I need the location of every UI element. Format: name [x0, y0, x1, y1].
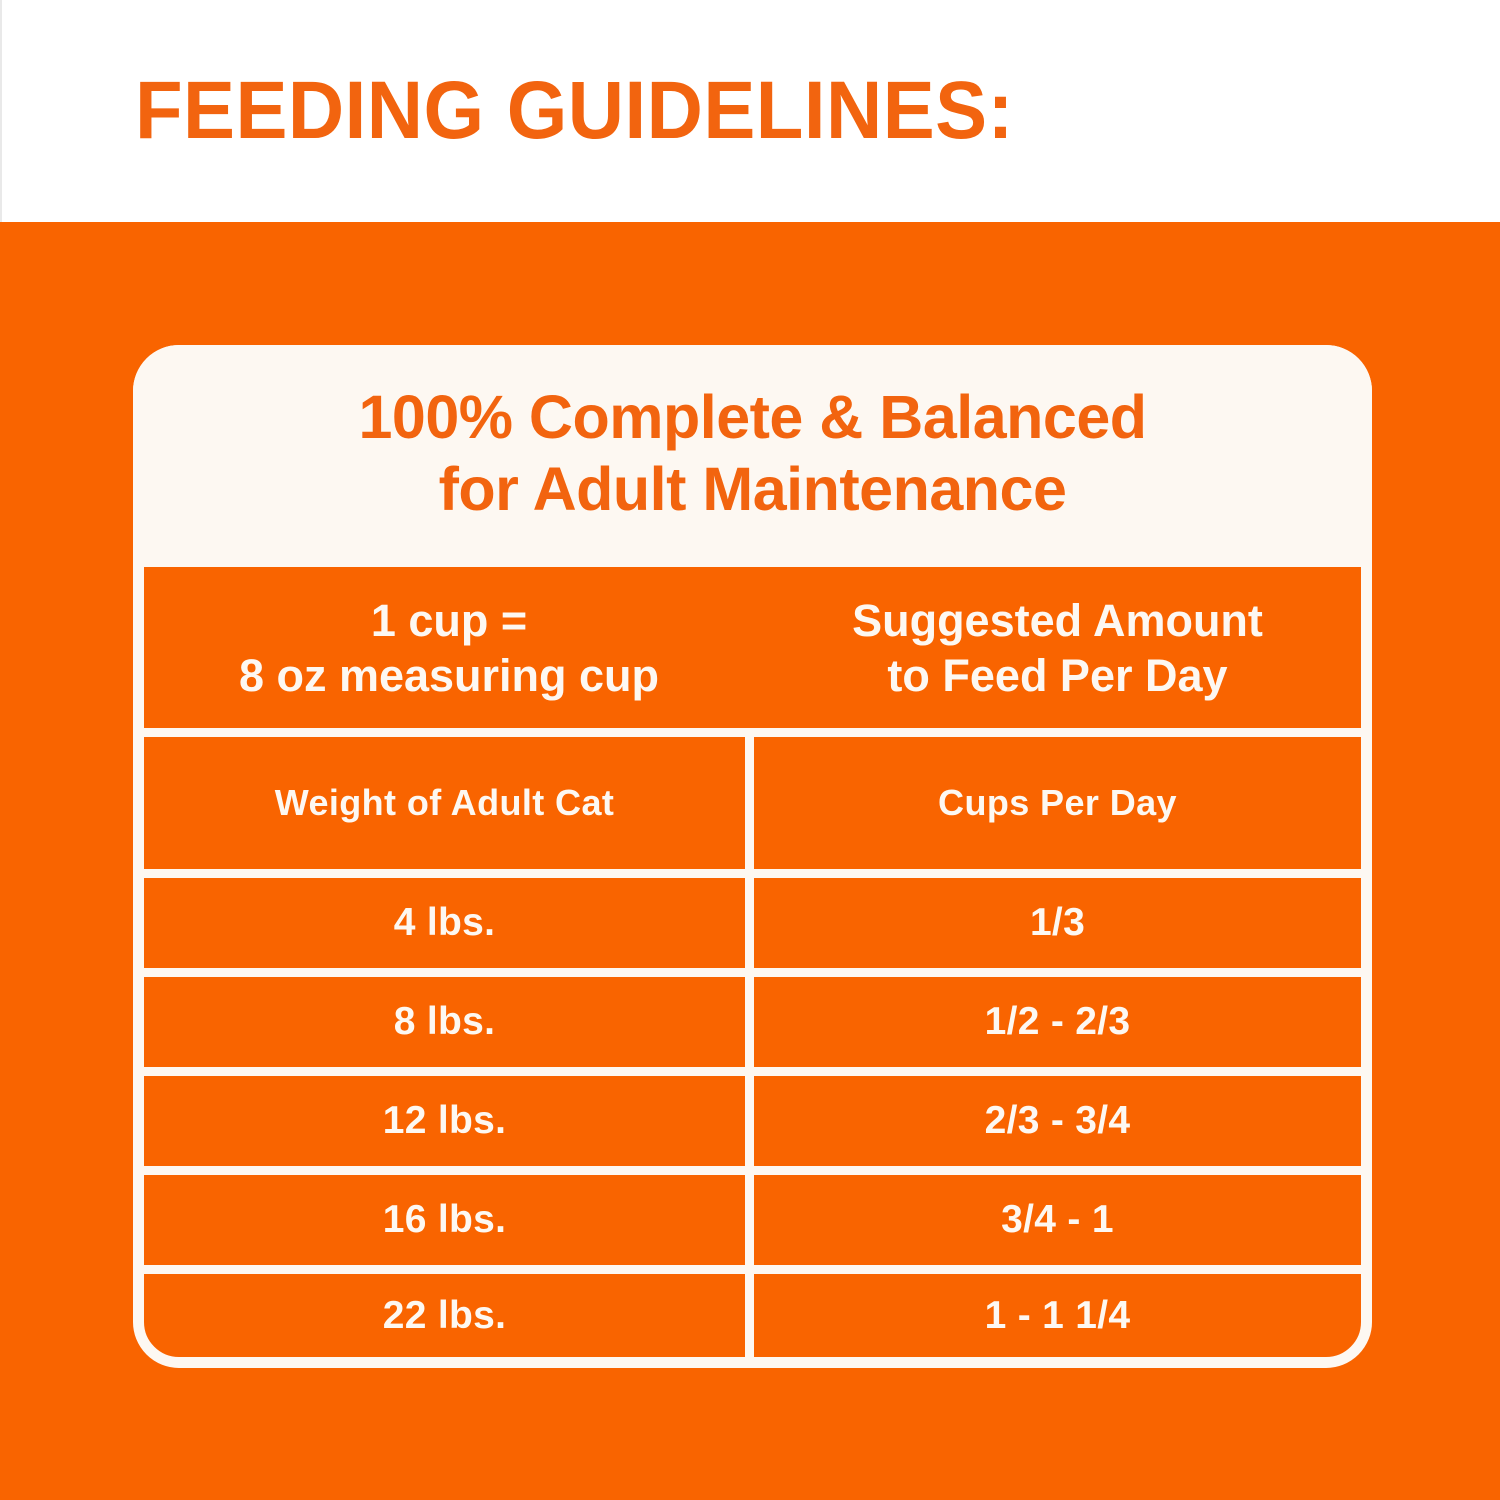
suggested-amount-line-1: Suggested Amount	[852, 593, 1263, 648]
column-header-weight: Weight of Adult Cat	[144, 737, 754, 869]
panel-heading-line-1: 100% Complete & Balanced	[358, 381, 1146, 453]
table-row: 4 lbs. 1/3	[144, 878, 1361, 977]
cell-cups: 2/3 - 3/4	[754, 1076, 1361, 1166]
table-top-header-row: 1 cup = 8 oz measuring cup Suggested Amo…	[144, 567, 1361, 737]
panel-heading: 100% Complete & Balanced for Adult Maint…	[358, 381, 1146, 531]
table-row: 16 lbs. 3/4 - 1	[144, 1175, 1361, 1274]
cell-weight: 16 lbs.	[144, 1175, 754, 1265]
table-row: 22 lbs. 1 - 1 1/4	[144, 1274, 1361, 1357]
table-row: 12 lbs. 2/3 - 3/4	[144, 1076, 1361, 1175]
feeding-guidelines-page: FEEDING GUIDELINES: 100% Complete & Bala…	[0, 0, 1500, 1500]
cup-definition-line-1: 1 cup =	[239, 593, 659, 648]
cell-weight: 4 lbs.	[144, 878, 754, 968]
cell-cups: 1/3	[754, 878, 1361, 968]
feeding-table: 1 cup = 8 oz measuring cup Suggested Amo…	[144, 567, 1361, 1357]
cell-cups: 3/4 - 1	[754, 1175, 1361, 1265]
cell-weight: 22 lbs.	[144, 1274, 754, 1357]
cell-cups: 1 - 1 1/4	[754, 1274, 1361, 1357]
title-band: FEEDING GUIDELINES:	[0, 0, 1500, 222]
panel-header: 100% Complete & Balanced for Adult Maint…	[133, 345, 1372, 567]
suggested-amount-cell: Suggested Amount to Feed Per Day	[754, 567, 1361, 728]
cup-definition-line-2: 8 oz measuring cup	[239, 648, 659, 703]
page-title: FEEDING GUIDELINES:	[135, 63, 1014, 159]
cell-weight: 8 lbs.	[144, 977, 754, 1067]
table-row: 8 lbs. 1/2 - 2/3	[144, 977, 1361, 1076]
cell-cups: 1/2 - 2/3	[754, 977, 1361, 1067]
cell-weight: 12 lbs.	[144, 1076, 754, 1166]
panel-heading-line-2: for Adult Maintenance	[358, 453, 1146, 525]
cup-definition-cell: 1 cup = 8 oz measuring cup	[144, 567, 754, 728]
column-header-cups: Cups Per Day	[754, 737, 1361, 869]
table-column-header-row: Weight of Adult Cat Cups Per Day	[144, 737, 1361, 878]
suggested-amount-line-2: to Feed Per Day	[852, 648, 1263, 703]
